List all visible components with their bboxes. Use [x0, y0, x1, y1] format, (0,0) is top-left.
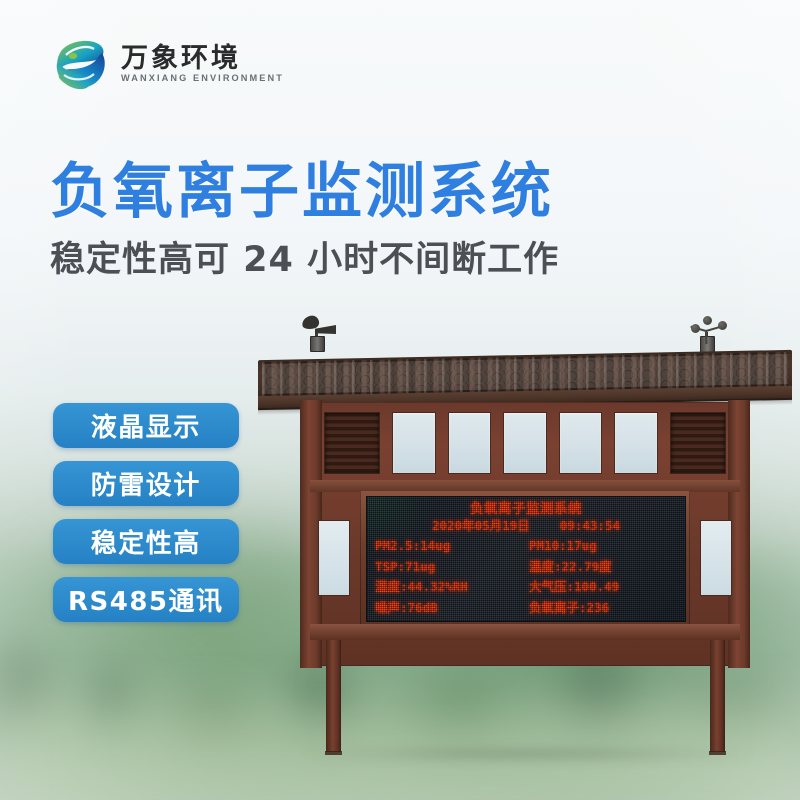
led-reading-humidity: 湿度:44.32%RH: [374, 580, 524, 593]
led-display-content: 负氧离子监测系统 2020年05月19日 09:43:54 PM2.5:14ug…: [367, 497, 685, 621]
brand-name-en: WANXIANG ENVIRONMENT: [121, 74, 284, 83]
window-pane: [448, 412, 492, 474]
led-display-housing: 负氧离子监测系统 2020年05月19日 09:43:54 PM2.5:14ug…: [360, 490, 690, 626]
side-window-pane-right: [700, 520, 732, 596]
window-pane: [559, 412, 603, 474]
led-datetime: 2020年05月19日 09:43:54: [374, 518, 678, 534]
support-leg-right: [710, 640, 725, 752]
product-poster: 万象环境 WANXIANG ENVIRONMENT 负氧离子监测系统 稳定性高可…: [0, 0, 800, 800]
cabinet-bottom-rail: [310, 624, 740, 640]
led-reading-noise: 噪声:76dB: [374, 601, 524, 614]
device-roof: [258, 349, 792, 403]
device-ground-shadow: [298, 746, 758, 762]
led-date: 2020年05月19日: [432, 518, 530, 533]
brand-logo: 万象环境 WANXIANG ENVIRONMENT: [50, 33, 284, 95]
led-time: 09:43:54: [560, 518, 620, 533]
feature-badge-label: 防雷设计: [91, 465, 201, 502]
led-readings: PM2.5:14ug PM10:17ug TSP:71ug 温度:22.79度 …: [374, 535, 678, 618]
brand-logo-text: 万象环境 WANXIANG ENVIRONMENT: [121, 45, 284, 83]
globe-swirl-logo-icon: [50, 33, 112, 95]
feature-badge-label: 液晶显示: [91, 407, 201, 444]
feature-badge-lcd-display[interactable]: 液晶显示: [53, 403, 239, 448]
anemometer-icon: [688, 316, 730, 352]
led-reading-row: 湿度:44.32%RH 大气压:100.49: [374, 580, 678, 593]
feature-badge-list: 液晶显示 防雷设计 稳定性高 RS485通讯: [53, 403, 239, 622]
feature-badge-high-stability[interactable]: 稳定性高: [53, 519, 239, 564]
window-pane: [503, 412, 547, 474]
led-reading-temperature: 温度:22.79度: [524, 560, 678, 573]
led-reading-negative-ions: 负氧离子:236: [524, 601, 678, 614]
page-subtitle: 稳定性高可 24 小时不间断工作: [50, 240, 559, 280]
led-reading-pm10: PM10:17ug: [524, 539, 678, 552]
display-row: 负氧离子监测系统 2020年05月19日 09:43:54 PM2.5:14ug…: [310, 492, 740, 624]
led-reading-row: TSP:71ug 温度:22.79度: [374, 560, 678, 573]
led-reading-row: PM2.5:14ug PM10:17ug: [374, 539, 678, 552]
brand-name-cn: 万象环境: [121, 45, 284, 72]
led-reading-tsp: TSP:71ug: [374, 560, 524, 573]
support-leg-left: [326, 640, 341, 752]
wind-vane-icon: [300, 316, 340, 352]
led-title: 负氧离子监测系统: [374, 502, 678, 518]
side-window-pane-left: [318, 520, 350, 596]
device-cabinet: 负氧离子监测系统 2020年05月19日 09:43:54 PM2.5:14ug…: [310, 402, 740, 666]
led-reading-pm25: PM2.5:14ug: [374, 539, 524, 552]
feature-badge-rs485[interactable]: RS485通讯: [53, 577, 239, 622]
monitoring-station-device: 负氧离子监测系统 2020年05月19日 09:43:54 PM2.5:14ug…: [258, 316, 792, 756]
window-pane: [614, 412, 658, 474]
upper-window-band: [324, 412, 726, 474]
feature-badge-label: RS485通讯: [68, 581, 224, 618]
led-reading-pressure: 大气压:100.49: [524, 580, 678, 593]
feature-badge-lightning-protection[interactable]: 防雷设计: [53, 461, 239, 506]
feature-badge-label: 稳定性高: [91, 523, 201, 560]
page-title: 负氧离子监测系统: [50, 160, 554, 225]
led-reading-row: 噪声:76dB 负氧离子:236: [374, 601, 678, 614]
louver-vent-left: [324, 412, 380, 474]
led-display-screen[interactable]: 负氧离子监测系统 2020年05月19日 09:43:54 PM2.5:14ug…: [366, 496, 686, 622]
window-pane: [392, 412, 436, 474]
louver-vent-right: [670, 412, 726, 474]
